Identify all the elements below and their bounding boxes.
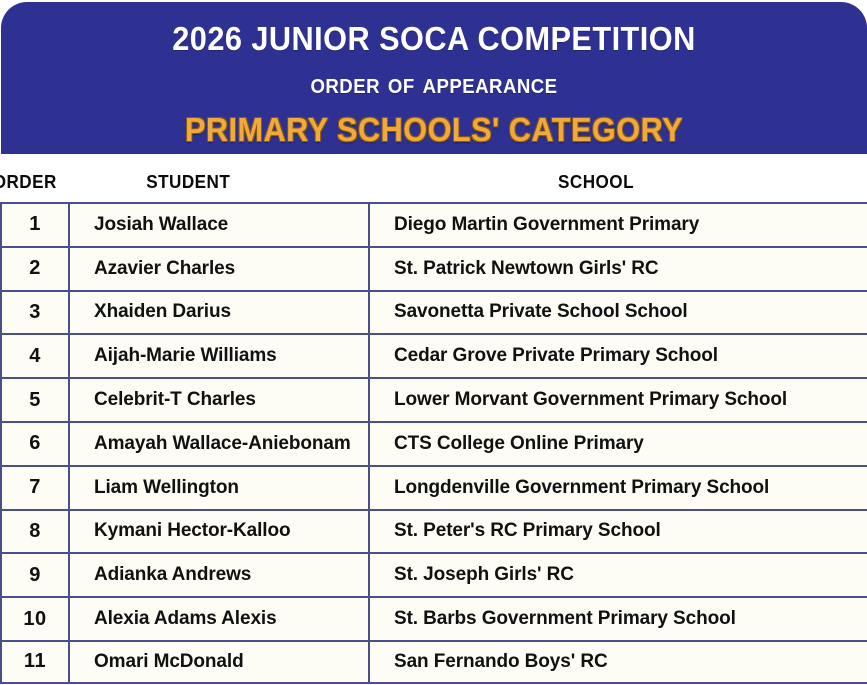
cell-student: Alexia Adams Alexis — [70, 598, 370, 640]
cell-student: Amayah Wallace-Aniebonam — [70, 423, 370, 465]
cell-order: 6 — [0, 423, 70, 465]
cell-school: Lower Morvant Government Primary School — [370, 379, 867, 421]
table-row: 4Aijah-Marie WilliamsCedar Grove Private… — [0, 333, 867, 377]
cell-student: Omari McDonald — [70, 642, 370, 682]
banner-category: PRIMARY SCHOOLS' CATEGORY — [31, 113, 836, 146]
order-of-appearance-table: 1Josiah WallaceDiego Martin Government P… — [0, 202, 867, 684]
column-header-order: Order — [0, 164, 57, 195]
cell-order: 3 — [0, 292, 70, 334]
cell-school: Diego Martin Government Primary — [370, 204, 867, 246]
table-row: 3Xhaiden DariusSavonetta Private School … — [0, 290, 867, 334]
cell-school: St. Patrick Newtown Girls' RC — [370, 248, 867, 290]
table-row: 8Kymani Hector-KallooSt. Peter's RC Prim… — [0, 509, 867, 553]
table-row: 1Josiah WallaceDiego Martin Government P… — [0, 202, 867, 246]
event-banner: 2026 JUNIOR SOCA COMPETITION Order of Ap… — [1, 2, 867, 154]
cell-student: Josiah Wallace — [70, 204, 370, 246]
cell-student: Azavier Charles — [70, 248, 370, 290]
cell-order: 8 — [0, 511, 70, 553]
cell-school: St. Joseph Girls' RC — [370, 554, 867, 596]
cell-order: 10 — [0, 598, 70, 640]
table-row: 9Adianka AndrewsSt. Joseph Girls' RC — [0, 552, 867, 596]
cell-order: 5 — [0, 379, 70, 421]
table-row: 11Omari McDonaldSan Fernando Boys' RC — [0, 640, 867, 684]
cell-school: Cedar Grove Private Primary School — [370, 335, 867, 377]
cell-order: 9 — [0, 554, 70, 596]
cell-school: CTS College Online Primary — [370, 423, 867, 465]
cell-student: Xhaiden Darius — [70, 292, 370, 334]
cell-order: 4 — [0, 335, 70, 377]
table-column-headers: Order Student School — [0, 156, 867, 202]
cell-order: 11 — [0, 642, 70, 682]
cell-student: Celebrit-T Charles — [70, 379, 370, 421]
column-header-student: Student — [146, 164, 230, 195]
banner-title: 2026 JUNIOR SOCA COMPETITION — [31, 22, 836, 55]
table-row: 5Celebrit-T CharlesLower Morvant Governm… — [0, 377, 867, 421]
table-row: 6Amayah Wallace-AniebonamCTS College Onl… — [0, 421, 867, 465]
cell-school: Longdenville Government Primary School — [370, 467, 867, 509]
banner-subtitle: Order of Appearance — [31, 70, 836, 99]
table-row: 2Azavier CharlesSt. Patrick Newtown Girl… — [0, 246, 867, 290]
cell-student: Kymani Hector-Kalloo — [70, 511, 370, 553]
cell-school: St. Barbs Government Primary School — [370, 598, 867, 640]
cell-order: 2 — [0, 248, 70, 290]
cell-school: Savonetta Private School School — [370, 292, 867, 334]
cell-student: Aijah-Marie Williams — [70, 335, 370, 377]
table-row: 7Liam WellingtonLongdenville Government … — [0, 465, 867, 509]
cell-order: 7 — [0, 467, 70, 509]
cell-school: St. Peter's RC Primary School — [370, 511, 867, 553]
column-header-school: School — [558, 164, 634, 195]
table-row: 10Alexia Adams AlexisSt. Barbs Governmen… — [0, 596, 867, 640]
cell-order: 1 — [0, 204, 70, 246]
cell-student: Liam Wellington — [70, 467, 370, 509]
cell-school: San Fernando Boys' RC — [370, 642, 867, 682]
cell-student: Adianka Andrews — [70, 554, 370, 596]
